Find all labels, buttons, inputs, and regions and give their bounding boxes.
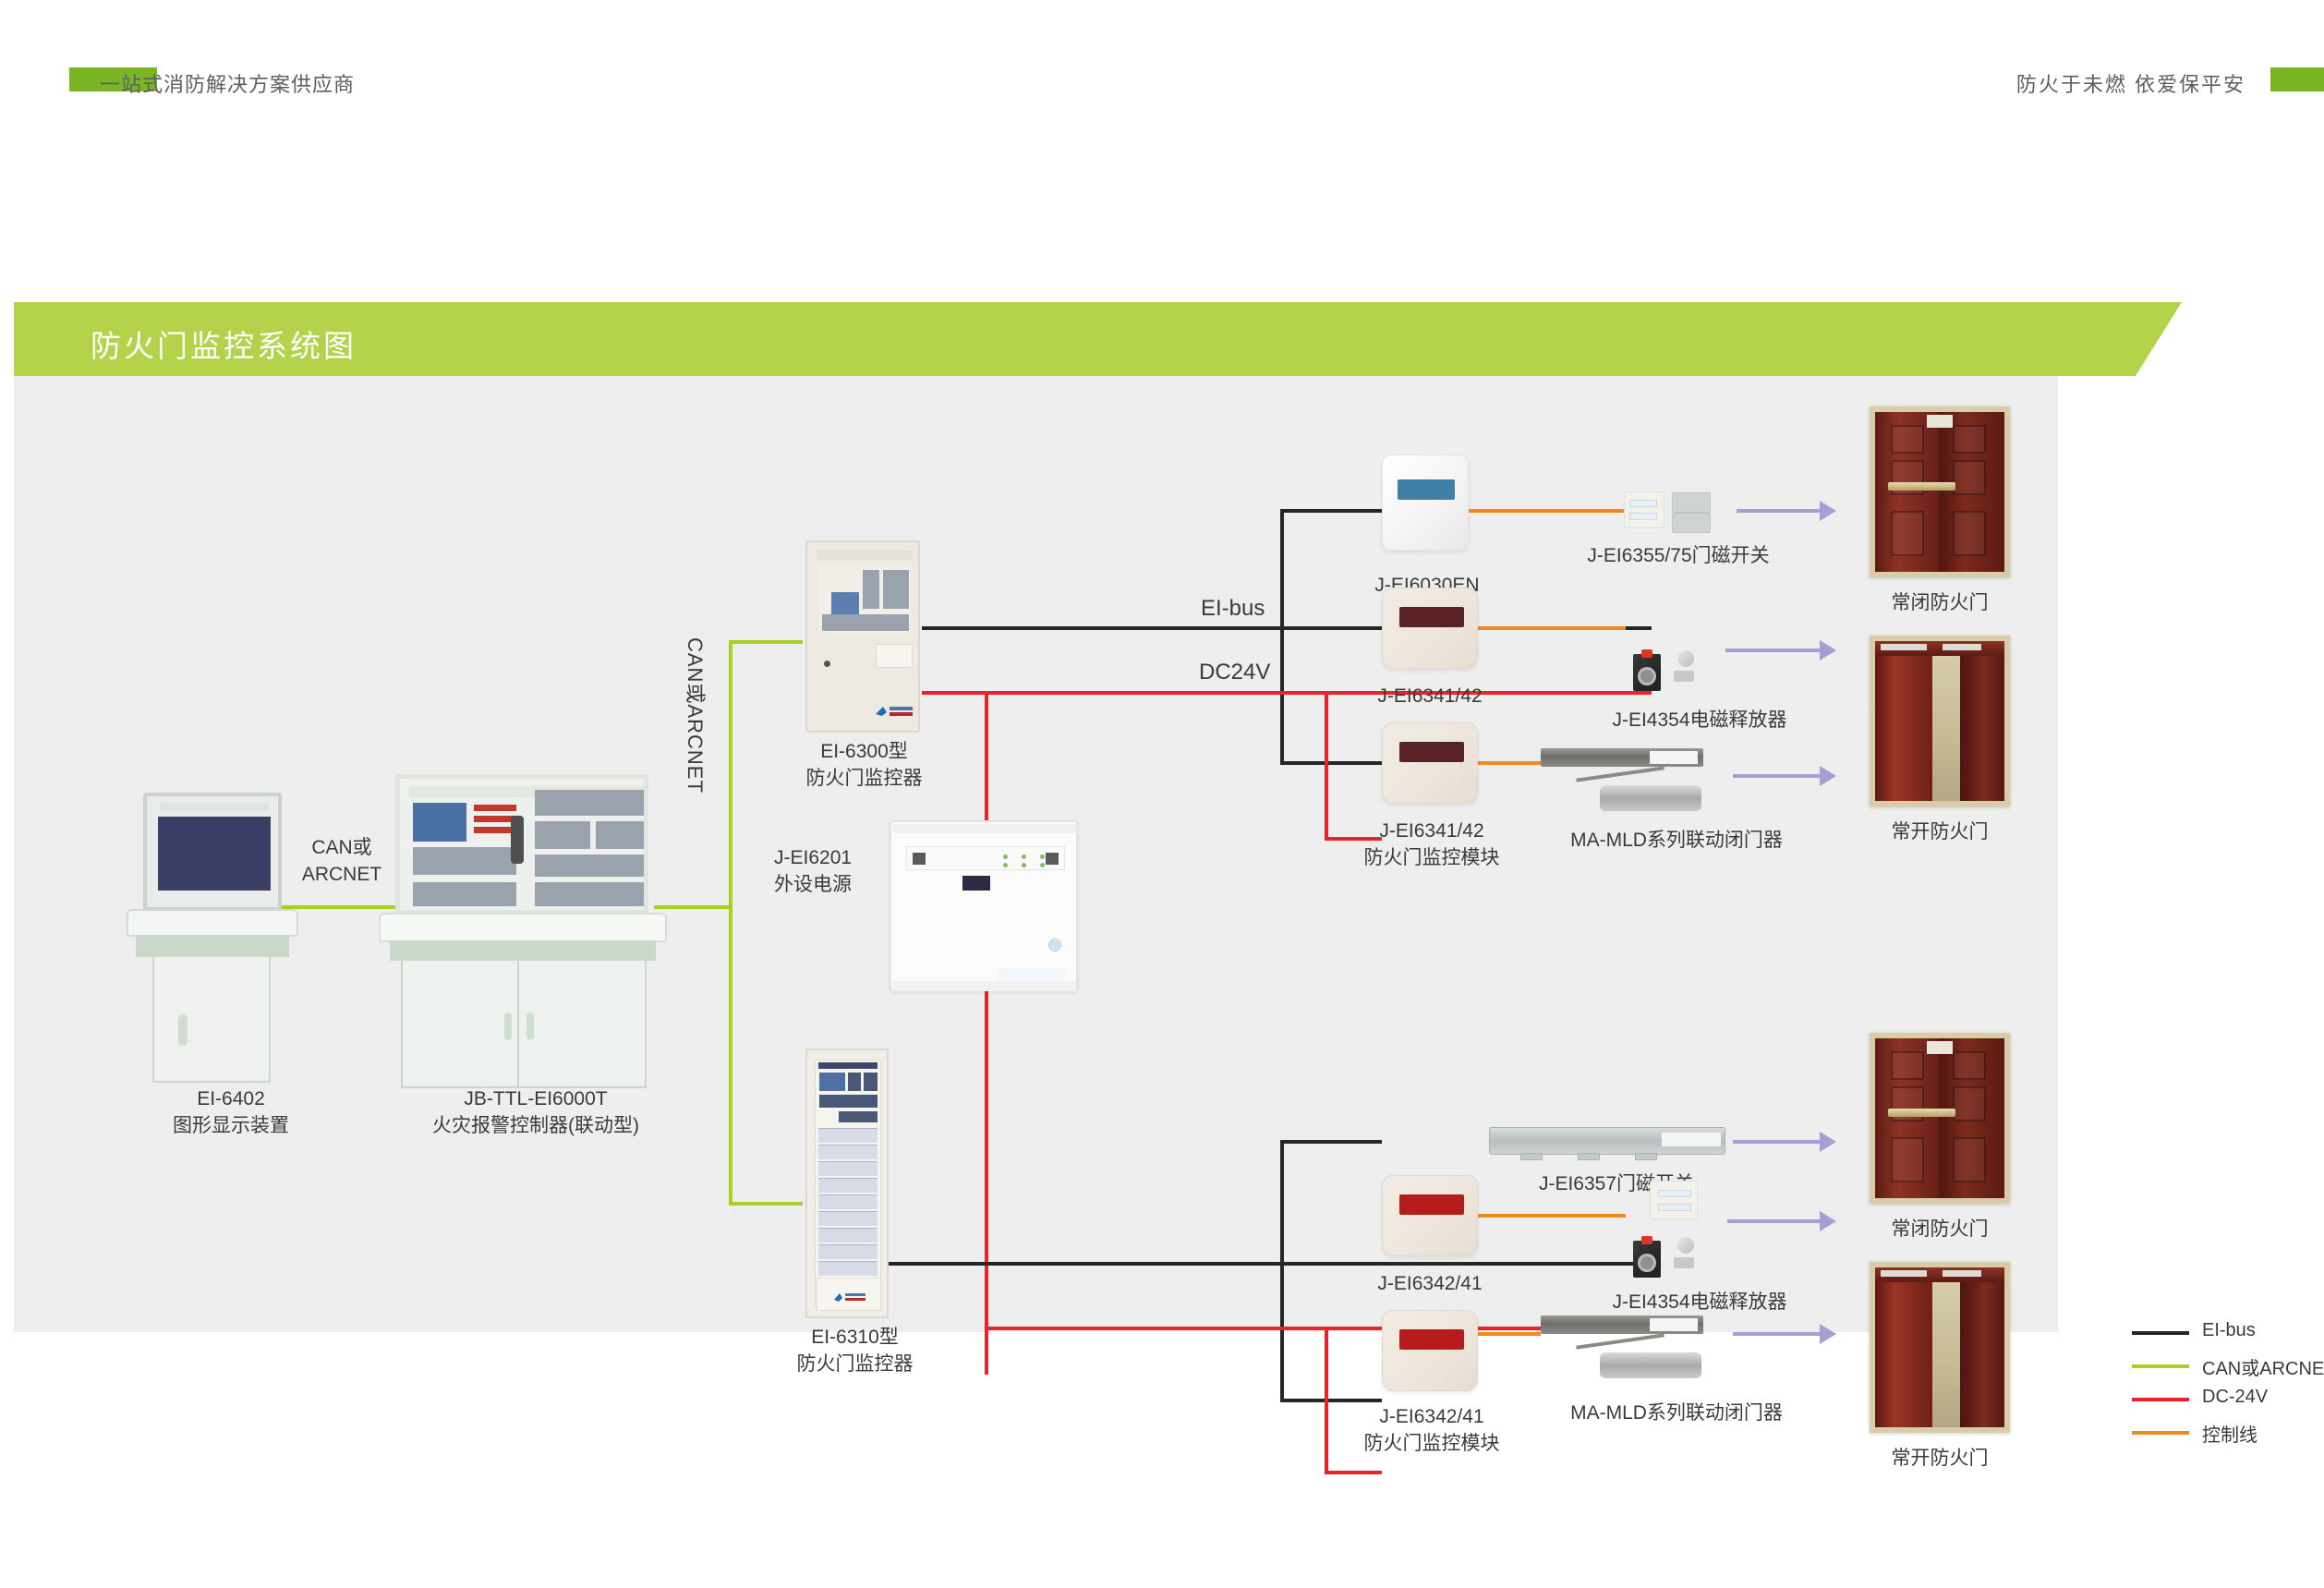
label-device-ma-mld-lower: MA-MLD系列联动闭门器 (1524, 1400, 1829, 1427)
jei6342b-code: J-EI6342/41 (1379, 1406, 1483, 1427)
legend-label-control: 控制线 (2202, 1420, 2257, 1447)
jei6201-indicator-icon (1048, 939, 1061, 952)
mamlda-nameplate (1650, 751, 1698, 764)
console-handle-left (504, 1012, 512, 1040)
door4-rail-icon (1943, 1270, 1981, 1277)
ei6300-code: EI-6300型 (820, 741, 908, 762)
jei6355b-label-strip (1658, 1190, 1691, 1197)
arrow-door1-icon (1820, 501, 1836, 521)
door-normally-closed-1 (1870, 406, 2010, 577)
line-out-door4-b (1733, 1332, 1820, 1336)
jei4354b-release-button[interactable] (1641, 1236, 1652, 1244)
ei6310-status-panel (839, 1111, 878, 1122)
mamlda-arm (1576, 766, 1664, 782)
ei6402-apron (136, 935, 289, 957)
jei6341b-nameplate (1399, 742, 1464, 762)
jei4354b-armature-plate (1677, 1237, 1694, 1254)
jei6030en-housing (1382, 455, 1469, 551)
jei4354b-magnet-body (1633, 1241, 1661, 1278)
jei6342b-desc: 防火门监控模块 (1364, 1433, 1500, 1454)
jei6342b-housing (1382, 1310, 1478, 1391)
line-eibus-to-6342b (1280, 1399, 1382, 1402)
line-control-6341a-to-6355 (1478, 626, 1626, 630)
line-eibus-down-branch (1280, 626, 1284, 765)
jei6375-body-upper (1672, 492, 1711, 513)
label-device-jei6342-41-upper: J-EI6342/41 (1347, 1271, 1513, 1298)
header-tagline-right: 防火于未燃 依爱保平安 (2016, 68, 2245, 98)
console-apron (390, 940, 656, 961)
ei6402-desc: 图形显示装置 (173, 1115, 289, 1136)
label-device-jei6341-42-upper: J-EI6341/42 (1347, 684, 1513, 710)
device-jei4354-lower[interactable] (1633, 1233, 1731, 1285)
ei6310-led-block (864, 1073, 878, 1091)
label-door-1: 常闭防火门 (1870, 588, 2010, 615)
ei6402-monitor (143, 793, 282, 911)
ei6310-code: EI-6310型 (811, 1327, 899, 1348)
jei4354a-armature-plate (1677, 650, 1694, 667)
ei6310-module-row (818, 1228, 878, 1243)
label-device-ei6402: EI-6402 图形显示装置 (115, 1086, 346, 1140)
arrow-door4a-icon (1820, 1211, 1836, 1231)
ei6310-module-row (818, 1128, 878, 1143)
jei4354b-magnet-face-icon (1638, 1254, 1656, 1272)
ei6310-keypad (819, 1095, 878, 1108)
mamldb-arm (1576, 1333, 1664, 1349)
label-device-ei6310: EI-6310型 防火门监控器 (765, 1325, 945, 1378)
door4-corridor (1932, 1267, 1961, 1427)
legend-item-dc24v: DC-24V (2132, 1383, 2317, 1416)
legend-label-can: CAN或ARCNET (2202, 1353, 2324, 1380)
ei6300-keypad (822, 614, 909, 631)
line-dc24v-vertical-spine (985, 691, 988, 1375)
door1-panel (1953, 425, 1986, 454)
line-eibus-bottom-up (1280, 1140, 1284, 1264)
console-indicator (474, 805, 516, 811)
jbttl-desc: 火灾报警控制器(联动型) (432, 1115, 639, 1136)
line-eibus-to-6030en (1280, 509, 1382, 513)
mamlda-slide-rail (1541, 748, 1703, 767)
header-tagline-left: 一站式消防解决方案供应商 (100, 68, 355, 98)
door1-panel (1891, 511, 1924, 555)
jei6030en-nameplate (1398, 479, 1455, 500)
ei6300-enclosure (805, 540, 920, 733)
ei6310-module-row (818, 1194, 878, 1209)
device-jei6341-42-upper[interactable] (1382, 588, 1478, 669)
device-ei6402[interactable] (143, 793, 319, 1088)
door2-right-leaf (1960, 641, 2004, 801)
page-header: 一站式消防解决方案供应商 防火于未燃 依爱保平安 (0, 0, 2324, 102)
arrow-door2b-icon (1820, 766, 1836, 786)
device-jei6342-41-lower[interactable] (1382, 1310, 1478, 1391)
jei6357-mount-foot (1520, 1153, 1543, 1160)
line-control-6030en-to-6355 (1469, 509, 1624, 513)
legend-swatch-control (2132, 1431, 2189, 1435)
jei6355-body (1624, 491, 1664, 528)
door1-panel (1953, 460, 1986, 495)
label-device-jei4354-lower: J-EI4354电磁释放器 (1561, 1290, 1838, 1316)
jei6342a-nameplate (1399, 1194, 1464, 1215)
door1-leaf (1875, 412, 2004, 572)
line-can-to-ei6300 (729, 640, 803, 644)
ei6310-module-row (818, 1261, 878, 1276)
door2-rail-icon (1943, 644, 1981, 650)
jei4354a-magnet-body (1633, 654, 1661, 691)
device-jei6341-42-lower[interactable] (1382, 722, 1478, 804)
jei6201-led (1022, 863, 1026, 867)
line-eibus-to-6357 (1280, 1140, 1382, 1144)
line-out-door3 (1733, 1140, 1820, 1144)
door4-scene (1875, 1267, 2004, 1427)
console-module-grid (535, 790, 644, 816)
label-device-jb-ttl-ei6000t: JB-TTL-EI6000T 火灾报警控制器(联动型) (397, 1086, 674, 1140)
legend-swatch-dc24v (2132, 1398, 2189, 1401)
label-door-3: 常闭防火门 (1870, 1214, 2010, 1242)
jei6341b-housing (1382, 722, 1478, 804)
jei4354a-release-button[interactable] (1641, 649, 1652, 658)
jei6355-label-strip (1629, 500, 1657, 507)
ei6300-printer (876, 644, 913, 668)
device-ei6310[interactable] (805, 1049, 889, 1318)
ei6310-desc: 防火门监控器 (797, 1353, 914, 1375)
device-ei6300[interactable] (805, 540, 920, 733)
mamldb-closer-body (1600, 1352, 1701, 1378)
label-device-jei6355-75: J-EI6355/75门磁开关 (1544, 543, 1812, 570)
line-out-door2-b (1733, 774, 1820, 778)
jei6201-control-strip (906, 846, 1065, 870)
ei6310-module-row (818, 1211, 878, 1226)
line-out-door2-a (1725, 649, 1820, 652)
label-can-line1: CAN或 (311, 837, 371, 858)
page-title: 防火门监控系统图 (91, 321, 357, 366)
device-jei6030en[interactable] (1382, 455, 1469, 551)
ei6310-buttons (848, 1073, 861, 1091)
arrow-door2a-icon (1820, 640, 1836, 661)
console-panel (395, 774, 648, 915)
label-device-jei6342-41-lower: J-EI6342/41 防火门监控模块 (1341, 1404, 1522, 1458)
door3-closer-icon (1927, 1041, 1953, 1054)
door1-push-bar (1888, 482, 1955, 491)
jei6341b-desc: 防火门监控模块 (1364, 847, 1500, 868)
console-buttons (596, 821, 644, 849)
line-control-6341b-to-mld (1478, 761, 1541, 765)
jei6341a-nameplate (1399, 607, 1464, 627)
door2-left-leaf (1875, 641, 1932, 801)
legend-swatch-eibus (2132, 1331, 2189, 1335)
jei6201-code: J-EI6201 (774, 847, 852, 868)
ei6402-handle (178, 1014, 188, 1046)
label-device-jei6341-42-lower: J-EI6341/42 防火门监控模块 (1341, 818, 1522, 872)
door3-panel (1891, 1137, 1924, 1182)
legend-item-can: CAN或ARCNET (2132, 1350, 2317, 1383)
legend-panel-background (2058, 376, 2324, 1332)
ei6300-title-strip (817, 551, 913, 560)
door3-panel (1953, 1086, 1986, 1121)
mamlda-closer-body (1600, 785, 1701, 811)
jei6355-label-strip (1629, 513, 1657, 520)
door3-panel (1953, 1051, 1986, 1080)
jei6341a-housing (1382, 588, 1478, 669)
ei6300-screen (831, 592, 859, 614)
console-screen (413, 803, 466, 842)
console-keypad (535, 882, 644, 906)
ei6310-brand-logo-icon (832, 1291, 869, 1303)
jei6201-led (1003, 863, 1008, 867)
door3-panel (1953, 1137, 1986, 1182)
jei6201-led (1022, 855, 1026, 859)
label-door-4: 常开防火门 (1870, 1443, 2010, 1471)
ei6310-module-row (818, 1161, 878, 1176)
door3-panel (1891, 1051, 1924, 1080)
mamldb-nameplate (1650, 1318, 1698, 1331)
ei6310-title-strip (818, 1062, 878, 1069)
jei6357-mount-foot (1578, 1153, 1600, 1160)
jei6355b-body (1650, 1181, 1698, 1219)
line-eibus-bottom-trunk (889, 1262, 1652, 1266)
line-can-vertical-riser (729, 640, 732, 1206)
jei6375-body-lower (1672, 513, 1711, 533)
jei6342a-housing (1382, 1175, 1478, 1256)
jei6357-nameplate (1662, 1133, 1721, 1146)
door4-left-leaf (1875, 1267, 1932, 1427)
label-door-2: 常开防火门 (1870, 817, 2010, 844)
jei6342b-nameplate (1399, 1329, 1464, 1350)
ei6402-desktop (127, 909, 298, 937)
legend: EI-bus CAN或ARCNET DC-24V 控制线 (2132, 1316, 2317, 1449)
console-module-grid (535, 855, 644, 877)
console-desktop (379, 913, 667, 942)
jei4354a-mount-bracket (1674, 671, 1694, 682)
ei6310-screen (819, 1073, 845, 1091)
legend-swatch-can (2132, 1364, 2189, 1368)
door1-closer-icon (1927, 415, 1953, 428)
jei6201-base-trim (893, 981, 1076, 991)
ei6402-code: EI-6402 (197, 1088, 265, 1109)
line-dc24v-down-branch (1325, 691, 1328, 841)
device-jei6342-41-upper[interactable] (1382, 1175, 1478, 1256)
line-dc24v-bottom-branch (1325, 1327, 1328, 1474)
line-dc24v-top-trunk (922, 691, 1652, 695)
console-display (535, 821, 590, 849)
ei6402-screen (158, 817, 271, 891)
jei6201-nameplate (999, 968, 1065, 981)
label-device-jei6201: J-EI6201 外设电源 (774, 845, 922, 899)
ei6310-module-row (818, 1145, 878, 1159)
jei6201-desc: 外设电源 (774, 874, 852, 895)
label-device-ma-mld-upper: MA-MLD系列联动闭门器 (1524, 828, 1829, 855)
device-jei6357[interactable] (1489, 1121, 1733, 1164)
jei6355b-label-strip (1658, 1204, 1691, 1211)
ei6310-cabinet (805, 1049, 889, 1318)
ei6300-faceplate (818, 566, 911, 633)
jei6201-display (962, 876, 990, 891)
jei6201-led (1040, 863, 1045, 867)
label-can-arcnet-vertical: CAN或ARCNET (682, 637, 711, 794)
console-handle-right (527, 1012, 534, 1040)
ei6300-led-grid (883, 570, 909, 609)
jei6201-led (1003, 855, 1008, 859)
door-normally-open-2 (1870, 1262, 2010, 1433)
header-accent-bar-right (2270, 67, 2324, 91)
device-jei6355-bottom[interactable] (1650, 1181, 1705, 1221)
label-ei-bus: EI-bus (1201, 596, 1265, 622)
jei4354a-magnet-face-icon (1638, 667, 1656, 685)
label-device-ei6300: EI-6300型 防火门监控器 (774, 739, 954, 793)
console-cabinet-divider (517, 961, 519, 1086)
legend-label-eibus: EI-bus (2202, 1320, 2256, 1341)
line-out-door1 (1737, 509, 1820, 513)
device-jb-ttl-ei6000t[interactable] (395, 774, 672, 1093)
door4-right-leaf (1960, 1267, 2004, 1427)
line-eibus-to-6341b (1280, 761, 1382, 765)
door3-push-bar (1888, 1109, 1955, 1117)
door2-scene (1875, 641, 2004, 801)
ei6402-titlebar (160, 803, 269, 811)
door4-rail-icon (1881, 1270, 1927, 1277)
device-jei6355-75[interactable] (1624, 488, 1733, 530)
door1-panel (1891, 425, 1924, 454)
console-keypad (413, 882, 516, 906)
ei6300-buttons (863, 570, 879, 609)
ei6300-brand-logo-icon (874, 705, 914, 718)
ei6402-cabinet (152, 955, 271, 1083)
jei6201-top-trim (893, 824, 1076, 833)
door2-corridor (1932, 641, 1961, 801)
console-cabinet (401, 959, 647, 1088)
device-jei4354-upper[interactable] (1633, 647, 1731, 698)
line-control-6342b-to-mld (1478, 1332, 1541, 1336)
jbttl-code: JB-TTL-EI6000T (464, 1088, 607, 1109)
line-eibus-bottom-down (1280, 1262, 1284, 1402)
door1-panel (1953, 511, 1986, 555)
jei6357-body (1489, 1127, 1725, 1155)
ei6310-module-row (818, 1178, 878, 1193)
device-ma-mld-lower[interactable] (1541, 1315, 1733, 1386)
legend-item-eibus: EI-bus (2132, 1316, 2317, 1350)
line-dc24v-to-6342b (1325, 1471, 1382, 1474)
jei4354b-mount-bracket (1674, 1257, 1694, 1268)
console-keypad (413, 847, 516, 875)
legend-label-dc24v: DC-24V (2202, 1387, 2268, 1408)
ei6300-desc: 防火门监控器 (806, 768, 923, 789)
jei6201-switch-icon (1046, 853, 1059, 865)
line-out-door4-a (1727, 1219, 1820, 1223)
device-ma-mld-upper[interactable] (1541, 748, 1733, 818)
arrow-door3-icon (1820, 1132, 1836, 1152)
arrow-door4b-icon (1820, 1324, 1836, 1344)
console-handset-icon (511, 816, 524, 864)
line-eibus-up-to-6030en (1280, 509, 1284, 628)
line-can-to-ei6310 (729, 1202, 803, 1206)
line-control-6342a-to-6355 (1478, 1214, 1626, 1218)
door3-leaf (1875, 1038, 2004, 1198)
door-normally-open-1 (1870, 636, 2010, 806)
ei6300-lock-icon (824, 661, 830, 667)
door-normally-closed-2 (1870, 1033, 2010, 1204)
mamldb-slide-rail (1541, 1315, 1703, 1334)
legend-item-control: 控制线 (2132, 1416, 2317, 1449)
jei6341b-code: J-EI6341/42 (1379, 820, 1483, 842)
ei6310-lower-door (817, 1278, 881, 1311)
door2-rail-icon (1881, 644, 1927, 650)
jei6357-mount-foot (1635, 1153, 1657, 1160)
ei6310-module-row (818, 1244, 878, 1259)
label-device-jei4354-upper: J-EI4354电磁释放器 (1561, 708, 1838, 734)
banner-fold-shape (2136, 302, 2182, 376)
label-dc24v: DC24V (1199, 660, 1270, 685)
jei6201-led (1040, 855, 1045, 859)
